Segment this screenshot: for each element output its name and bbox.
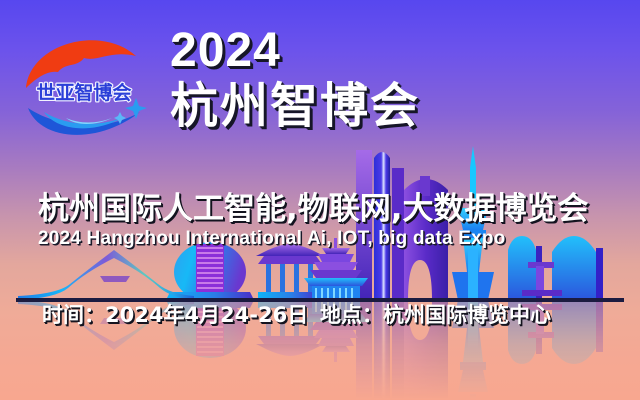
ground-line — [16, 298, 624, 302]
page-title: 杭州智博会 — [170, 80, 420, 132]
subtitle-chinese: 杭州国际人工智能,物联网,大数据博览会 — [38, 192, 589, 226]
year-heading: 2024 — [170, 26, 281, 76]
logo-text: 世亚智博会 — [36, 81, 131, 104]
event-location: 地点：杭州国际博览中心 — [320, 303, 551, 327]
blue-swoosh-icon — [28, 108, 140, 135]
event-time: 时间：2024年4月24-26日 — [42, 303, 308, 327]
red-arc-icon — [26, 40, 136, 88]
event-poster: 世亚智博会 2024 杭州智博会 杭州国际人工智能,物联网,大数据博览会 202… — [0, 0, 640, 400]
subtitle-english: 2024 Hangzhou International Ai, IOT, big… — [38, 228, 505, 250]
event-logo: 世亚智博会 — [14, 28, 154, 143]
